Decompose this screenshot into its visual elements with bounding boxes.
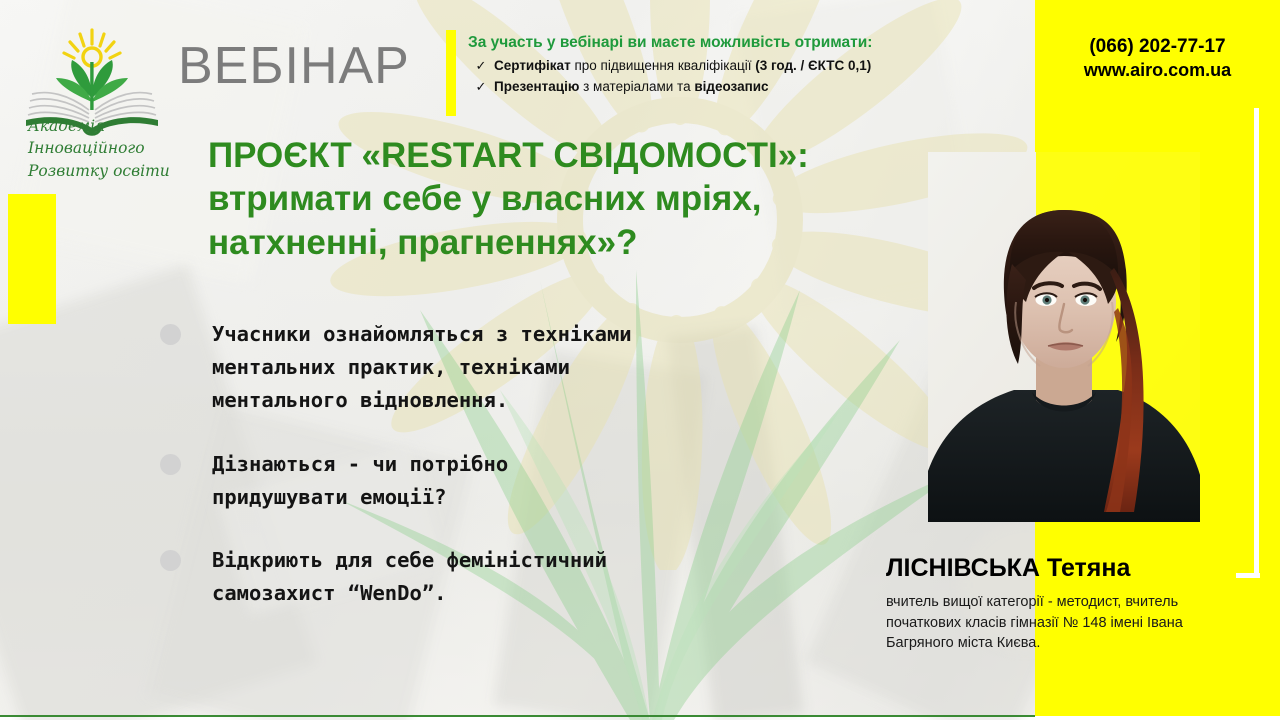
- benefit-bold-lead: Сертифікат: [494, 58, 571, 73]
- benefit-light: про підвищення кваліфікації: [571, 58, 756, 73]
- webinar-slide: Академія Інноваційного Розвитку освіти В…: [0, 0, 1280, 720]
- benefit-light: з матеріалами та: [579, 79, 694, 94]
- benefit-item: ✓ Презентацію з матеріалами та відеозапи…: [468, 79, 1028, 96]
- check-icon: ✓: [468, 79, 494, 95]
- list-item: Відкриють для себе феміністичний самозах…: [160, 544, 920, 610]
- speaker-photo: [928, 152, 1200, 522]
- benefits-block: За участь у вебінарі ви маєте можливість…: [468, 34, 1028, 96]
- speaker-name: ЛІСНІВСЬКА Тетяна: [886, 554, 1130, 583]
- page-title: ПРОЄКТ «RESTART СВІДОМОСТІ»: втримати се…: [208, 134, 888, 264]
- bullet-dot-icon: [160, 550, 181, 571]
- list-item-text: Дізнаються - чи потрібно придушувати емо…: [212, 448, 920, 514]
- bullet-list: Учасники ознайомляться з техніками мента…: [160, 318, 920, 632]
- white-frame-vertical: [1254, 108, 1259, 578]
- left-yellow-accent-block: [8, 194, 56, 324]
- phone-number[interactable]: (066) 202-77-17: [1035, 34, 1280, 59]
- logo-line-1: Академія: [28, 115, 208, 137]
- header-yellow-bar: [446, 30, 456, 116]
- speaker-description: вчитель вищої категорії - методист, вчит…: [886, 592, 1246, 654]
- benefit-bold-tail: (3 год. / ЄКТС 0,1): [755, 58, 871, 73]
- benefit-bold-lead: Презентацію: [494, 79, 579, 94]
- benefit-item: ✓ Сертифікат про підвищення кваліфікації…: [468, 58, 1028, 75]
- bullet-dot-icon: [160, 454, 181, 475]
- bottom-green-rule: [0, 715, 1035, 717]
- website-link[interactable]: www.airo.com.ua: [1035, 59, 1280, 83]
- list-item-text: Відкриють для себе феміністичний самозах…: [212, 544, 920, 610]
- speaker-portrait-image: [928, 152, 1200, 522]
- list-item: Дізнаються - чи потрібно придушувати емо…: [160, 448, 920, 514]
- benefit-bold-tail: відеозапис: [694, 79, 768, 94]
- white-frame-horizontal: [1236, 573, 1260, 578]
- bullet-dot-icon: [160, 324, 181, 345]
- logo-line-2: Інноваційного: [28, 137, 208, 159]
- logo-line-3: Розвитку освіти: [28, 160, 208, 182]
- check-icon: ✓: [468, 58, 494, 74]
- list-item-text: Учасники ознайомляться з техніками мента…: [212, 318, 920, 418]
- webinar-label: ВЕБІНАР: [178, 40, 410, 92]
- benefits-title: За участь у вебінарі ви маєте можливість…: [468, 34, 1028, 53]
- academy-logo: Академія Інноваційного Розвитку освіти: [20, 22, 200, 172]
- list-item: Учасники ознайомляться з техніками мента…: [160, 318, 920, 418]
- contact-block: (066) 202-77-17 www.airo.com.ua: [1035, 34, 1280, 83]
